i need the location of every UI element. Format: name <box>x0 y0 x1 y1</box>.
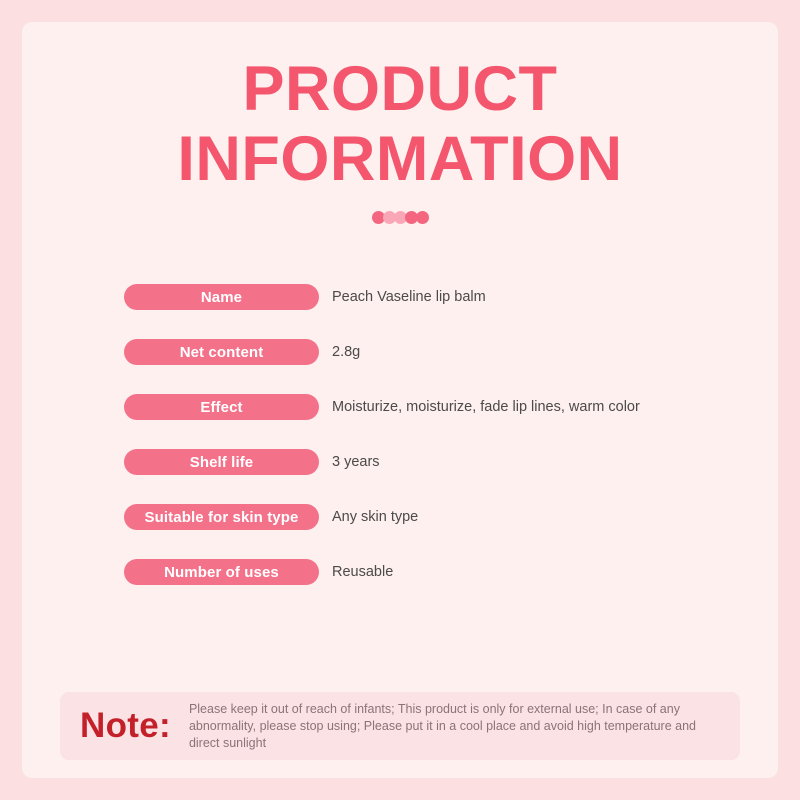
spec-row: Number of uses Reusable <box>124 559 764 585</box>
spec-label-shelf-life: Shelf life <box>124 449 319 475</box>
spec-value-suitable-for-skin-type: Any skin type <box>332 504 418 530</box>
spec-label-name: Name <box>124 284 319 310</box>
spec-value-net-content: 2.8g <box>332 339 360 365</box>
divider-dot-icon <box>416 211 429 224</box>
page-title: PRODUCT INFORMATION <box>22 54 778 194</box>
spec-label-suitable-for-skin-type: Suitable for skin type <box>124 504 319 530</box>
note-text: Please keep it out of reach of infants; … <box>189 701 726 752</box>
spec-row: Effect Moisturize, moisturize, fade lip … <box>124 394 764 420</box>
page-title-line-1: PRODUCT <box>22 54 778 124</box>
spec-label-number-of-uses: Number of uses <box>124 559 319 585</box>
spec-value-effect: Moisturize, moisturize, fade lip lines, … <box>332 394 640 420</box>
note-label: Note: <box>80 706 171 746</box>
page-title-line-2: INFORMATION <box>22 124 778 194</box>
poster-card: PRODUCT INFORMATION Name Peach Vaseline … <box>22 22 778 778</box>
spec-label-net-content: Net content <box>124 339 319 365</box>
spec-value-shelf-life: 3 years <box>332 449 380 475</box>
note-box: Note: Please keep it out of reach of inf… <box>60 692 740 760</box>
specification-list: Name Peach Vaseline lip balm Net content… <box>124 284 764 614</box>
spec-row: Net content 2.8g <box>124 339 764 365</box>
product-information-poster: PRODUCT INFORMATION Name Peach Vaseline … <box>0 0 800 800</box>
spec-value-number-of-uses: Reusable <box>332 559 393 585</box>
spec-row: Suitable for skin type Any skin type <box>124 504 764 530</box>
spec-row: Name Peach Vaseline lip balm <box>124 284 764 310</box>
spec-row: Shelf life 3 years <box>124 449 764 475</box>
spec-label-effect: Effect <box>124 394 319 420</box>
decorative-dots-divider <box>22 211 778 224</box>
spec-value-name: Peach Vaseline lip balm <box>332 284 486 310</box>
